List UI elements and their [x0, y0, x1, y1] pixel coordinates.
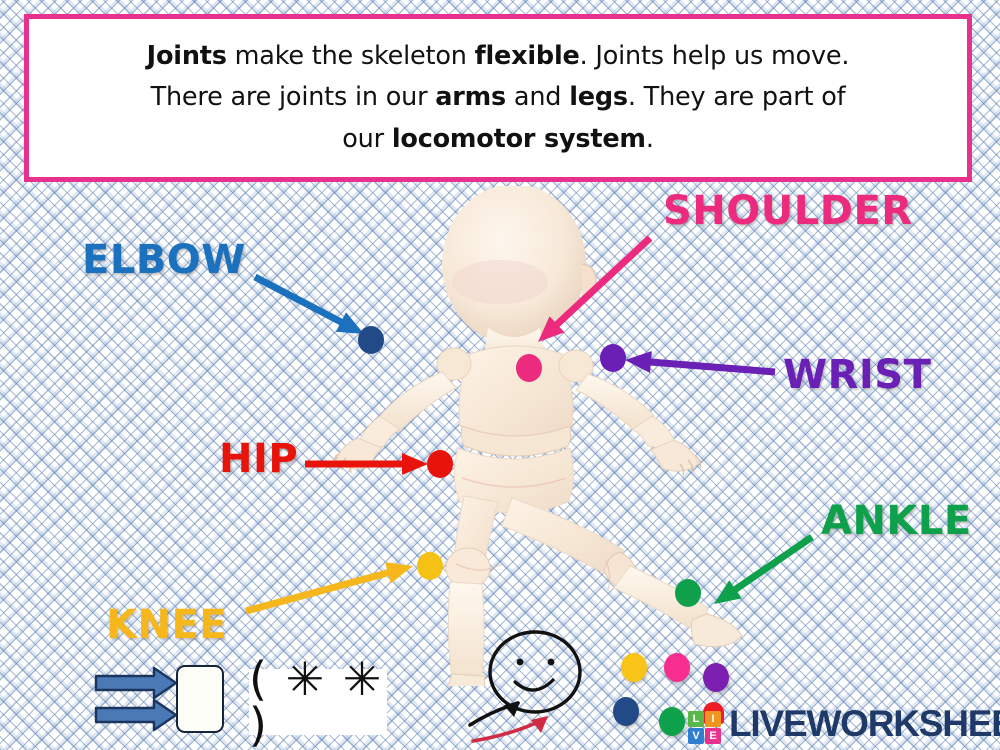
answer-input-box[interactable]	[176, 665, 224, 733]
joint-label-hip: HIP	[219, 436, 298, 482]
palette-dot-yellow[interactable]	[621, 653, 647, 682]
logo-tile-i: I	[705, 711, 721, 727]
liveworksheets-logo[interactable]: LIVE LIVEWORKSHEETS	[686, 700, 1000, 746]
curved-arrow-black-icon	[470, 702, 520, 725]
joint-label-elbow: ELBOW	[82, 237, 246, 283]
logo-tile-v: V	[688, 728, 704, 744]
liveworksheets-wordmark: LIVEWORKSHEETS	[729, 705, 1000, 742]
worksheet-page: Joints make the skeleton flexible. Joint…	[0, 0, 1000, 750]
asterisk-hint-chip: ( ✳ ✳ )	[249, 669, 387, 735]
joint-label-wrist: WRIST	[783, 352, 931, 398]
liveworksheets-mark-icon: LIVE	[686, 702, 728, 744]
instruction-panel: Joints make the skeleton flexible. Joint…	[24, 14, 972, 182]
mannequin-figure-image	[330, 186, 750, 686]
instruction-line-3: our locomotor system.	[342, 119, 653, 160]
logo-tile-l: L	[688, 711, 704, 727]
double-arrow-icon	[96, 668, 176, 730]
instruction-line-1: Joints make the skeleton flexible. Joint…	[147, 36, 850, 77]
curved-arrow-red-icon	[473, 716, 548, 741]
palette-dot-navy[interactable]	[613, 697, 639, 726]
palette-dot-green[interactable]	[659, 707, 685, 736]
logo-tile-e: E	[705, 728, 721, 744]
palette-dot-purple[interactable]	[703, 663, 729, 692]
joint-label-shoulder: SHOULDER	[663, 188, 913, 234]
instruction-line-2: There are joints in our arms and legs. T…	[151, 77, 846, 118]
palette-dot-pink[interactable]	[664, 653, 690, 682]
logo-letter-tiles: LIVE	[688, 711, 721, 744]
joint-label-ankle: ANKLE	[821, 498, 972, 544]
joint-label-knee: KNEE	[106, 602, 227, 648]
